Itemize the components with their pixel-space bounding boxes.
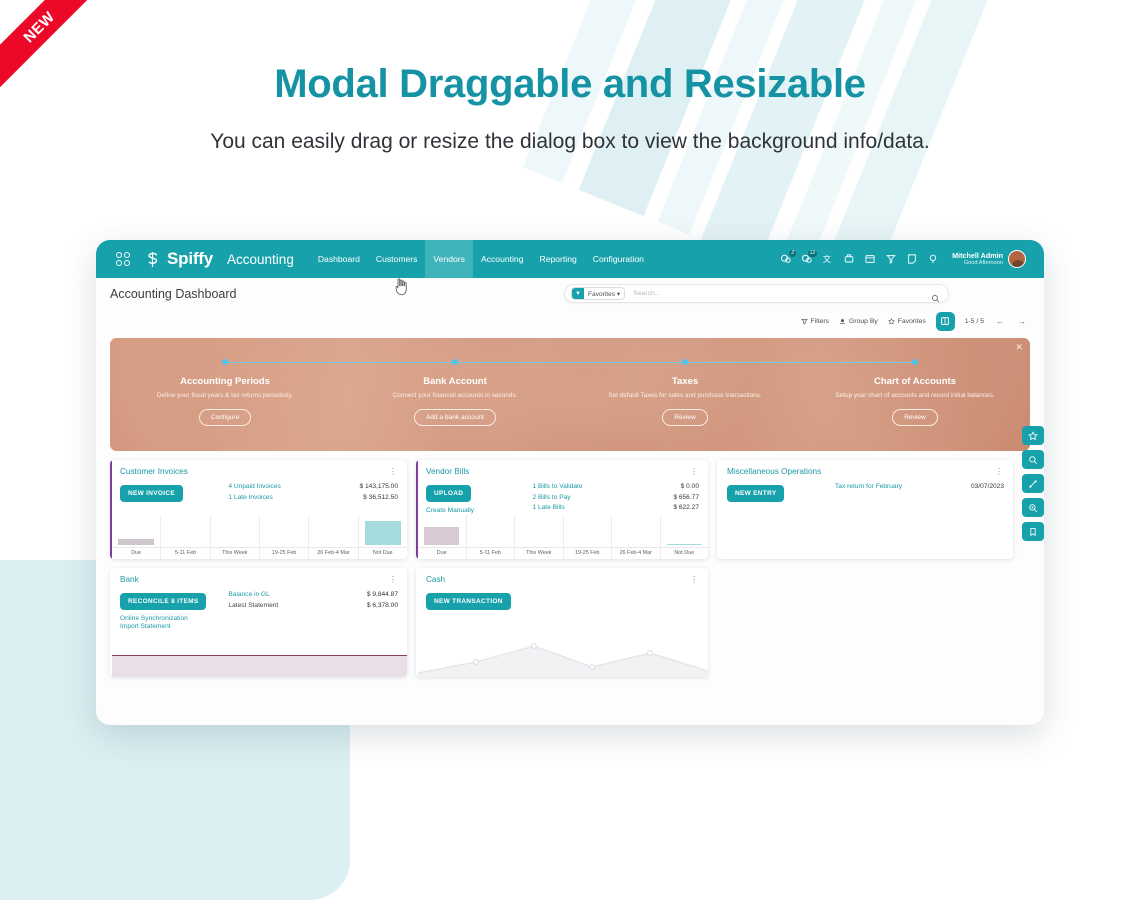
- bank-balance-bar: [112, 655, 407, 677]
- brand-name: Spiffy: [167, 249, 213, 269]
- card-customer-invoices[interactable]: Customer Invoices ⋮ NEW INVOICE 4 Unpaid…: [110, 460, 407, 559]
- step-connector: [225, 362, 455, 363]
- new-entry-button[interactable]: NEW ENTRY: [727, 485, 784, 502]
- card-title: Customer Invoices: [120, 467, 188, 476]
- step-title: Taxes: [570, 376, 800, 387]
- kebab-menu-icon[interactable]: ⋮: [690, 467, 699, 476]
- row-value: $ 36,512.50: [363, 493, 398, 504]
- menu-item-accounting[interactable]: Accounting: [473, 240, 532, 278]
- step-description: Setup your chart of accounts and record …: [800, 391, 1030, 400]
- breadcrumb: Accounting Dashboard: [110, 287, 236, 301]
- card-title: Cash: [426, 575, 445, 584]
- row-value: $ 622.27: [673, 503, 699, 514]
- menu-item-configuration[interactable]: Configuration: [585, 240, 652, 278]
- headline-block: Modal Draggable and Resizable You can ea…: [0, 62, 1140, 157]
- control-panel-bottom: Filters Group By Favorites 1-5 / 5 ← →: [96, 310, 1044, 332]
- onboarding-banner: ✕ Accounting Periods Define your fiscal …: [110, 338, 1030, 451]
- pager-previous[interactable]: ←: [994, 317, 1006, 326]
- search-input[interactable]: Search...: [633, 290, 660, 297]
- messages-icon[interactable]: 2: [780, 253, 792, 265]
- search-icon[interactable]: [1022, 450, 1044, 469]
- card-miscellaneous-operations[interactable]: Miscellaneous Operations ⋮ NEW ENTRY Tax…: [717, 460, 1013, 559]
- menu-item-customers[interactable]: Customers: [368, 240, 426, 278]
- cash-area-chart: [418, 629, 708, 677]
- user-greeting: Good Afternoon: [952, 260, 1003, 266]
- row-label: Latest Statement: [228, 601, 278, 612]
- row-value: $ 656.77: [673, 493, 699, 504]
- reconcile-items-button[interactable]: RECONCILE 8 ITEMS: [120, 593, 206, 610]
- main-menu: Dashboard Customers Vendors Accounting R…: [310, 240, 652, 278]
- star-icon[interactable]: [1022, 426, 1044, 445]
- menu-item-dashboard[interactable]: Dashboard: [310, 240, 368, 278]
- new-invoice-button[interactable]: NEW INVOICE: [120, 485, 183, 502]
- menu-item-vendors[interactable]: Vendors: [425, 240, 473, 278]
- spiffy-logo-icon: [143, 250, 162, 269]
- kebab-menu-icon[interactable]: ⋮: [995, 467, 1004, 476]
- page-subtitle: You can easily drag or resize the dialog…: [0, 127, 1140, 157]
- translate-icon[interactable]: 文: [822, 253, 834, 265]
- floating-toolbar: [1022, 426, 1044, 541]
- step-dot: [452, 359, 458, 365]
- search-icon[interactable]: [931, 290, 940, 308]
- user-menu[interactable]: Mitchell Admin Good Afternoon: [952, 250, 1026, 268]
- row-label: 4 Unpaid Invoices: [228, 482, 280, 493]
- vendor-bills-bar-chart: Due 5-11 Feb This Week 19-25 Feb 26 Feb-…: [418, 515, 708, 559]
- app-window: Spiffy Accounting Dashboard Customers Ve…: [96, 240, 1044, 725]
- control-panel-top: Accounting Dashboard ▼ Favorites ▾ Searc…: [96, 278, 1044, 310]
- table-row[interactable]: Latest Statement $ 6,378.00: [228, 601, 398, 612]
- row-label: 1 Late Bills: [532, 503, 564, 514]
- card-cash[interactable]: Cash ⋮ NEW TRANSACTION: [416, 568, 708, 677]
- step-description: Set default Taxes for sales and purchase…: [570, 391, 800, 400]
- step-description: Connect your financial accounts in secon…: [340, 391, 570, 400]
- calendar-icon[interactable]: [864, 253, 876, 265]
- row-value: $ 143,175.00: [359, 482, 398, 493]
- row-label: 2 Bills to Pay: [532, 493, 570, 504]
- step-title: Chart of Accounts: [800, 376, 1030, 387]
- filters-button[interactable]: Filters: [801, 318, 830, 325]
- online-synchronization-link[interactable]: Online Synchronization: [120, 615, 228, 622]
- upload-button[interactable]: UPLOAD: [426, 485, 471, 502]
- group-by-button[interactable]: Group By: [839, 318, 878, 325]
- onboarding-step-accounting-periods: Accounting Periods Define your fiscal ye…: [110, 338, 340, 451]
- step-title: Bank Account: [340, 376, 570, 387]
- customer-invoices-bar-chart: Due 5-11 Feb This Week 19-25 Feb 26 Feb-…: [112, 515, 407, 559]
- card-bank[interactable]: Bank ⋮ RECONCILE 8 ITEMS Online Synchron…: [110, 568, 407, 677]
- step-description: Define your fiscal years & tax returns p…: [110, 391, 340, 400]
- kanban-view-icon[interactable]: [936, 312, 955, 331]
- table-row[interactable]: 4 Unpaid Invoices $ 143,175.00: [228, 482, 398, 493]
- configure-button[interactable]: Configure: [199, 409, 252, 426]
- table-row[interactable]: Balance in GL $ 9,844.87: [228, 590, 398, 601]
- user-name: Mitchell Admin: [952, 252, 1003, 260]
- close-icon[interactable]: ✕: [1015, 342, 1023, 353]
- help-icon[interactable]: [927, 253, 939, 265]
- kebab-menu-icon[interactable]: ⋮: [389, 575, 398, 584]
- onboarding-step-chart-of-accounts: Chart of Accounts Setup your chart of ac…: [800, 338, 1030, 451]
- table-row[interactable]: 1 Late Invoices $ 36,512.50: [228, 493, 398, 504]
- row-label: 1 Bills to Validate: [532, 482, 582, 493]
- row-value: $ 9,844.87: [367, 590, 398, 601]
- activities-badge: 12: [808, 250, 818, 257]
- facet-filter-icon: ▼: [572, 287, 584, 300]
- pager-next[interactable]: →: [1016, 317, 1028, 326]
- activities-icon[interactable]: 12: [801, 253, 813, 265]
- table-row[interactable]: Tax return for February 03/07/2023: [835, 482, 1004, 493]
- card-title: Miscellaneous Operations: [727, 467, 821, 476]
- page-title: Modal Draggable and Resizable: [0, 62, 1140, 107]
- step-dot: [912, 359, 918, 365]
- facet-label: Favorites ▾: [584, 290, 624, 298]
- resize-icon[interactable]: [1022, 474, 1044, 493]
- avatar[interactable]: [1008, 250, 1026, 268]
- note-icon[interactable]: [906, 253, 918, 265]
- step-dot: [682, 359, 688, 365]
- step-title: Accounting Periods: [110, 376, 340, 387]
- mouse-cursor-icon: [393, 278, 409, 296]
- review-coa-button[interactable]: Review: [892, 409, 938, 426]
- add-bank-account-button[interactable]: Add a bank account: [414, 409, 496, 426]
- onboarding-steps: Accounting Periods Define your fiscal ye…: [110, 338, 1030, 451]
- row-value: 03/07/2023: [971, 482, 1004, 493]
- zoom-search-icon[interactable]: [1022, 498, 1044, 517]
- row-value: $ 0.00: [681, 482, 699, 493]
- card-title: Bank: [120, 575, 139, 584]
- step-connector: [685, 362, 915, 363]
- dashboard-cards: Customer Invoices ⋮ NEW INVOICE 4 Unpaid…: [96, 451, 1044, 677]
- step-dot: [222, 359, 228, 365]
- group-icon: [839, 318, 846, 325]
- app-navbar: Spiffy Accounting Dashboard Customers Ve…: [96, 240, 1044, 278]
- favorites-button[interactable]: Favorites: [888, 318, 926, 325]
- search-bar[interactable]: ▼ Favorites ▾ Search...: [564, 284, 949, 303]
- review-taxes-button[interactable]: Review: [662, 409, 708, 426]
- row-label: Balance in GL: [228, 590, 269, 601]
- messages-badge: 2: [789, 250, 796, 257]
- pager-counter: 1-5 / 5: [965, 318, 984, 325]
- card-vendor-bills[interactable]: Vendor Bills ⋮ UPLOAD Create Manually 1 …: [416, 460, 708, 559]
- app-name: Accounting: [227, 252, 294, 267]
- star-icon: [888, 318, 895, 325]
- new-ribbon-label: NEW: [20, 8, 58, 46]
- table-row[interactable]: 1 Late Bills $ 622.27: [532, 503, 699, 514]
- systray: 2 12 文: [780, 250, 1034, 268]
- create-manually-link[interactable]: Create Manually: [426, 507, 532, 514]
- svg-text:文: 文: [823, 254, 831, 264]
- step-connector: [455, 362, 685, 363]
- import-statement-link[interactable]: Import Statement: [120, 623, 228, 630]
- table-row[interactable]: 2 Bills to Pay $ 656.77: [532, 493, 699, 504]
- kebab-menu-icon[interactable]: ⋮: [690, 575, 699, 584]
- bookmark-icon[interactable]: [1022, 522, 1044, 541]
- print-icon[interactable]: [843, 253, 855, 265]
- kebab-menu-icon[interactable]: ⋮: [389, 467, 398, 476]
- onboarding-step-bank-account: Bank Account Connect your financial acco…: [340, 338, 570, 451]
- onboarding-step-taxes: Taxes Set default Taxes for sales and pu…: [570, 338, 800, 451]
- search-facet-favorites[interactable]: ▼ Favorites ▾: [571, 287, 625, 300]
- card-title: Vendor Bills: [426, 467, 469, 476]
- filter-icon: [801, 318, 808, 325]
- filter-icon[interactable]: [885, 253, 897, 265]
- grid-apps-icon[interactable]: [116, 252, 134, 266]
- row-label: 1 Late Invoices: [228, 493, 272, 504]
- row-value: $ 6,378.00: [367, 601, 398, 612]
- menu-item-reporting[interactable]: Reporting: [532, 240, 585, 278]
- new-transaction-button[interactable]: NEW TRANSACTION: [426, 593, 511, 610]
- table-row[interactable]: 1 Bills to Validate $ 0.00: [532, 482, 699, 493]
- row-label: Tax return for February: [835, 482, 902, 493]
